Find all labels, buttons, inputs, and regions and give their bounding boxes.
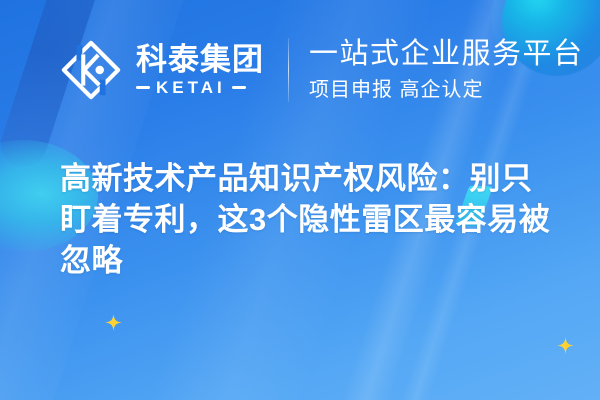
four-point-sparkle-icon — [557, 337, 574, 354]
slogan-main-text: 一站式企业服务平台 — [309, 38, 584, 71]
dash-left-icon — [136, 86, 150, 89]
brand-name-en-row: KETAI — [136, 79, 264, 96]
brand-name-cn: 科泰集团 — [136, 44, 264, 77]
header-divider — [288, 38, 289, 102]
brand-logo[interactable]: 科泰集团 KETAI — [60, 39, 264, 101]
dash-right-icon — [232, 86, 246, 89]
banner-header: 科泰集团 KETAI 一站式企业服务平台 项目申报 高企认定 — [0, 0, 600, 140]
article-title: 高新技术产品知识产权风险：别只盯着专利，这3个隐性雷区最容易被忽略 — [60, 158, 560, 281]
slogan-sub-text: 项目申报 高企认定 — [309, 78, 584, 102]
brand-name-en: KETAI — [156, 79, 226, 96]
brand-slogan: 一站式企业服务平台 项目申报 高企认定 — [309, 38, 584, 102]
brand-wordmark: 科泰集团 KETAI — [136, 44, 264, 97]
four-point-sparkle-icon — [105, 314, 122, 331]
ketai-diamond-monogram-icon — [60, 39, 122, 101]
article-cover-banner: 科泰集团 KETAI 一站式企业服务平台 项目申报 高企认定 高新技术产品知识产… — [0, 0, 600, 400]
